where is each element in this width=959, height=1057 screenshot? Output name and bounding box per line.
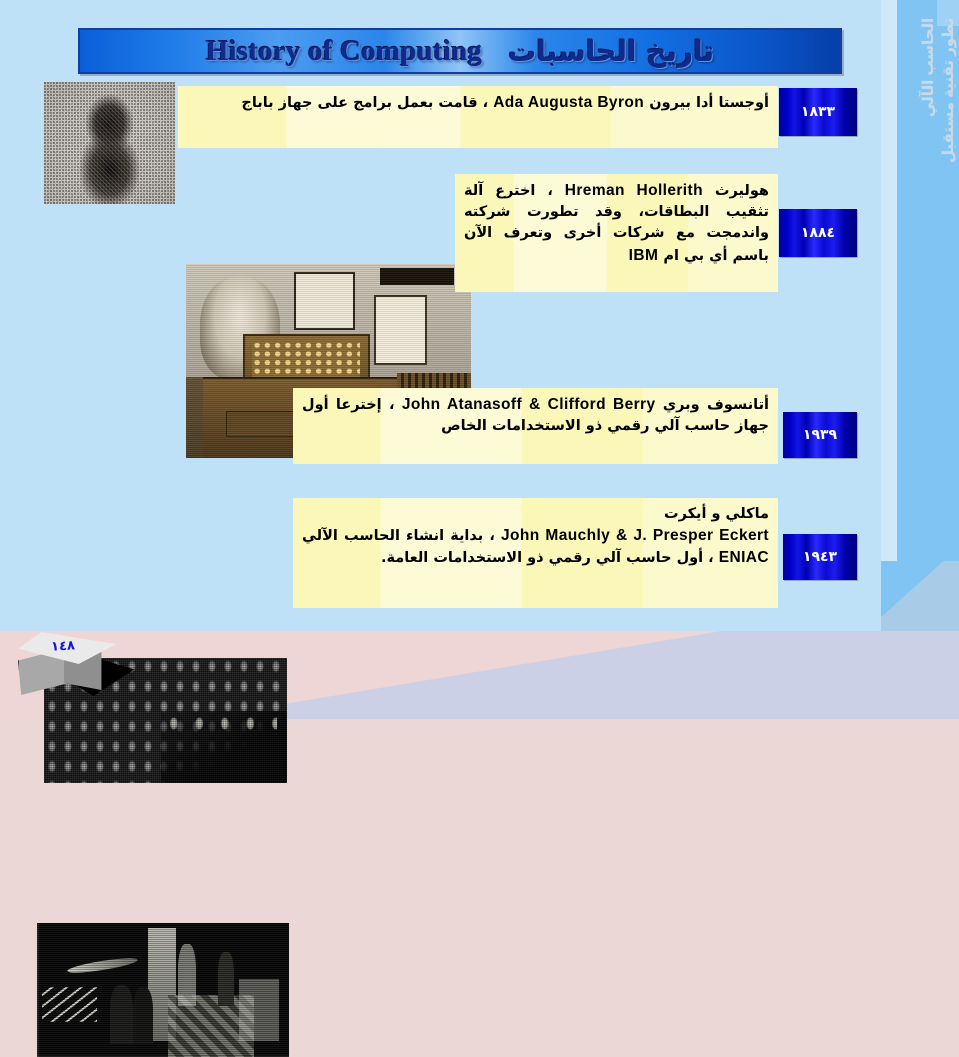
entry-1943-latin-name-2: ENIAC	[719, 549, 769, 566]
entry-card-1833: أوجستا أدا بيرون Ada Augusta Byron ، قام…	[178, 86, 778, 148]
entry-card-1833-text: أوجستا أدا بيرون Ada Augusta Byron ، قام…	[187, 92, 769, 114]
photo-ada-lovelace-portrait	[44, 82, 175, 204]
entry-card-1943: ماكلي و أيكرت John Mauchly & J. Presper …	[293, 498, 778, 608]
entry-1884-latin-name-2: IBM	[629, 247, 659, 264]
entry-1939-latin-name: John Atanasoff & Clifford Berry	[402, 396, 656, 413]
entry-1833-arabic-lead: أوجستا أدا بيرون	[649, 95, 769, 111]
right-band-corner	[881, 561, 959, 631]
entry-card-1939: أتانسوف وبري John Atanasoff & Clifford B…	[293, 388, 778, 464]
entry-card-1884-text: هوليرث Hreman Hollerith ، اخترع آلة تثقي…	[464, 180, 769, 267]
side-text-line-1: تطور تقنية مستقبل	[940, 18, 958, 318]
entry-1943-arabic-tail: ، بداية انشاء الحاسب الآلي	[302, 528, 495, 544]
entry-card-1943-text: ماكلي و أيكرت John Mauchly & J. Presper …	[302, 504, 769, 570]
page-number-block: ١٤٨	[12, 630, 132, 710]
year-badge-1833-label: ١٨٣٣	[801, 104, 835, 120]
photo-grain	[37, 923, 289, 1057]
year-badge-1884-label: ١٨٨٤	[801, 225, 835, 241]
photo-eniac-operators	[37, 923, 289, 1057]
year-badge-1884: ١٨٨٤	[779, 209, 857, 257]
entry-1833-arabic-tail: ، قامت بعمل برامج على جهاز باباج	[241, 95, 488, 111]
entry-1884-latin-name: Hreman Hollerith	[565, 182, 703, 199]
title-arabic: تاريخ الحاسبات	[508, 35, 714, 68]
year-badge-1939: ١٩٣٩	[783, 412, 857, 458]
entry-1884-arabic-lead: هوليرث	[715, 183, 769, 199]
entry-1943-arabic-lead: ماكلي و أيكرت	[664, 506, 769, 522]
title-english: History of Computing	[206, 35, 482, 68]
year-badge-1939-label: ١٩٣٩	[803, 427, 837, 443]
entry-1943-latin-name: John Mauchly & J. Presper Eckert	[501, 527, 769, 544]
photo-grain	[44, 82, 175, 204]
year-badge-1833: ١٨٣٣	[779, 88, 857, 136]
year-badge-1943-label: ١٩٤٣	[803, 549, 837, 565]
entry-1943-arabic-tail-2: ، أول حاسب آلي رقمي ذو الاستخدامات العام…	[381, 550, 714, 566]
entry-card-1939-text: أتانسوف وبري John Atanasoff & Clifford B…	[302, 394, 769, 437]
page-number-label: ١٤٨	[40, 638, 87, 655]
year-badge-1943: ١٩٤٣	[783, 534, 857, 580]
entry-card-1884: هوليرث Hreman Hollerith ، اخترع آلة تثقي…	[455, 174, 778, 292]
side-vertical-text: تطور تقنية مستقبل الحاسب الآلي	[884, 18, 958, 318]
entry-1939-arabic-lead: أتانسوف وبري	[663, 397, 769, 413]
slide-title-banner: History of Computing تاريخ الحاسبات	[78, 28, 842, 74]
side-text-line-2: الحاسب الآلي	[920, 18, 938, 318]
entry-1833-latin-name: Ada Augusta Byron	[493, 94, 644, 111]
